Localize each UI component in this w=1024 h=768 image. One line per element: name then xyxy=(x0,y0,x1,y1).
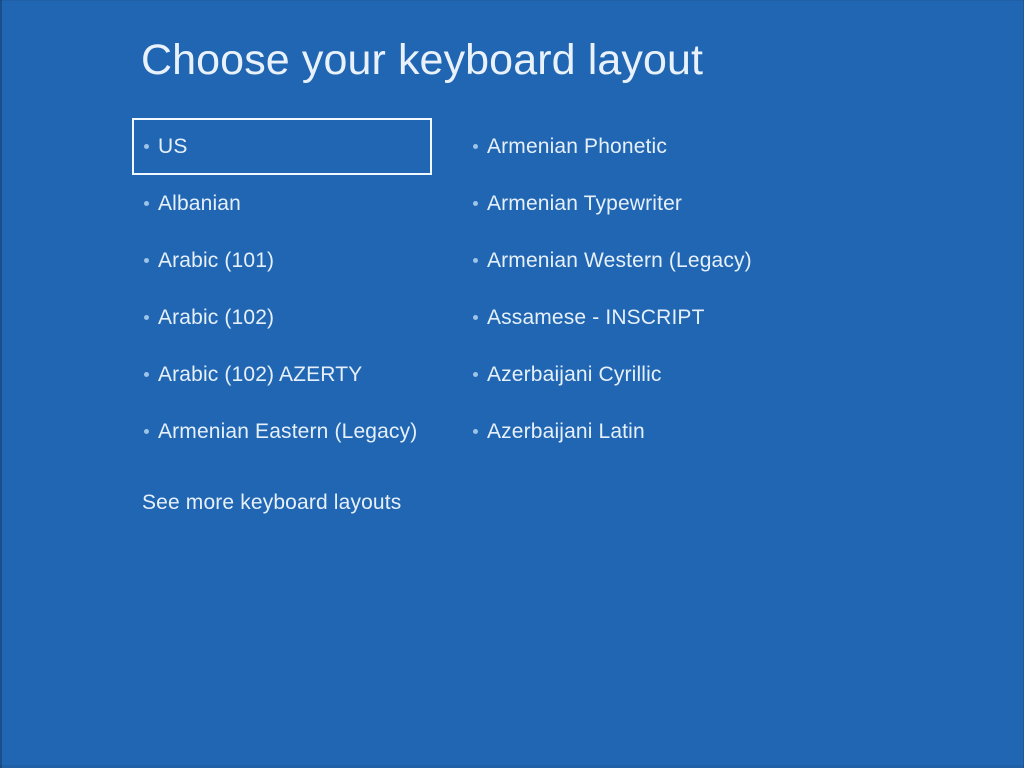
bullet-icon xyxy=(473,258,478,263)
layout-item[interactable]: Armenian Western (Legacy) xyxy=(461,232,791,289)
layout-item-label: Armenian Western (Legacy) xyxy=(487,249,752,273)
bullet-icon xyxy=(473,315,478,320)
layout-item[interactable]: Azerbaijani Latin xyxy=(461,403,791,460)
layout-item-label: Albanian xyxy=(158,192,241,216)
layout-item[interactable]: Assamese - INSCRIPT xyxy=(461,289,791,346)
layout-item[interactable]: Albanian xyxy=(132,175,432,232)
layout-item-label: Arabic (102) AZERTY xyxy=(158,363,362,387)
layout-item[interactable]: Arabic (102) AZERTY xyxy=(132,346,432,403)
keyboard-layout-list: USAlbanianArabic (101)Arabic (102)Arabic… xyxy=(0,0,1024,768)
layout-item-label: Armenian Eastern (Legacy) xyxy=(158,420,417,444)
layout-column-right: Armenian PhoneticArmenian TypewriterArme… xyxy=(461,118,791,460)
bullet-icon xyxy=(473,429,478,434)
layout-item[interactable]: Arabic (101) xyxy=(132,232,432,289)
layout-item-label: Azerbaijani Cyrillic xyxy=(487,363,662,387)
bullet-icon xyxy=(473,144,478,149)
layout-item[interactable]: Armenian Typewriter xyxy=(461,175,791,232)
layout-item-label: Arabic (101) xyxy=(158,249,274,273)
layout-column-left: USAlbanianArabic (101)Arabic (102)Arabic… xyxy=(132,118,432,460)
layout-item[interactable]: Armenian Phonetic xyxy=(461,118,791,175)
bullet-icon xyxy=(144,429,149,434)
bullet-icon xyxy=(473,201,478,206)
bullet-icon xyxy=(144,315,149,320)
layout-item-label: Arabic (102) xyxy=(158,306,274,330)
bullet-icon xyxy=(144,372,149,377)
see-more-keyboard-layouts-link[interactable]: See more keyboard layouts xyxy=(142,491,401,515)
layout-item-label: Armenian Phonetic xyxy=(487,135,667,159)
bullet-icon xyxy=(473,372,478,377)
layout-item-label: US xyxy=(158,135,187,159)
bullet-icon xyxy=(144,144,149,149)
layout-item[interactable]: Azerbaijani Cyrillic xyxy=(461,346,791,403)
keyboard-layout-screen: Choose your keyboard layout USAlbanianAr… xyxy=(0,0,1024,768)
layout-item[interactable]: Armenian Eastern (Legacy) xyxy=(132,403,432,460)
bullet-icon xyxy=(144,258,149,263)
layout-item[interactable]: US xyxy=(132,118,432,175)
bullet-icon xyxy=(144,201,149,206)
layout-item-label: Azerbaijani Latin xyxy=(487,420,645,444)
layout-item[interactable]: Arabic (102) xyxy=(132,289,432,346)
layout-item-label: Assamese - INSCRIPT xyxy=(487,306,705,330)
layout-item-label: Armenian Typewriter xyxy=(487,192,682,216)
